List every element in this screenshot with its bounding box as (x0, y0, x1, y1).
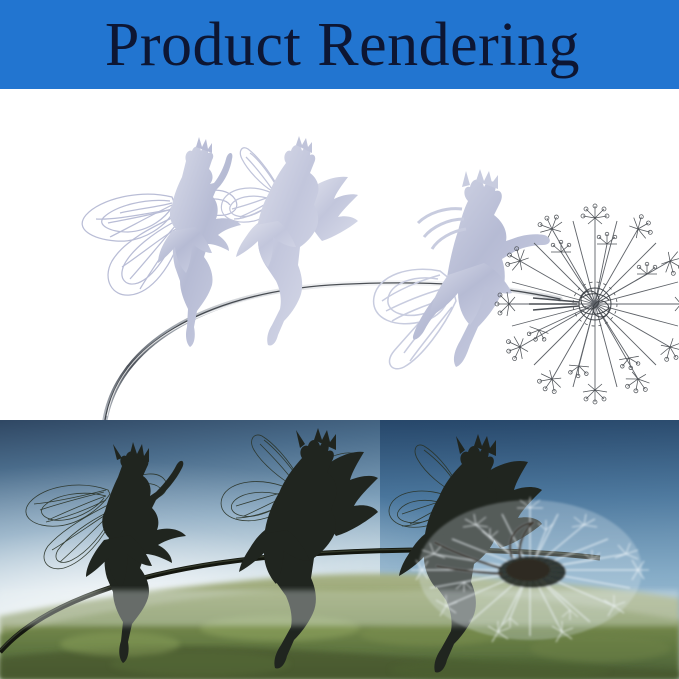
header-banner: Product Rendering (0, 0, 679, 89)
product-render-illustration (0, 89, 679, 420)
lifestyle-photo-illustration (0, 420, 679, 679)
horizon-haze (0, 590, 679, 626)
product-render-panel (0, 89, 679, 420)
product-listing-image: Product Rendering (0, 0, 679, 679)
page-title: Product Rendering (0, 0, 679, 89)
lifestyle-photo-panel (0, 420, 679, 679)
